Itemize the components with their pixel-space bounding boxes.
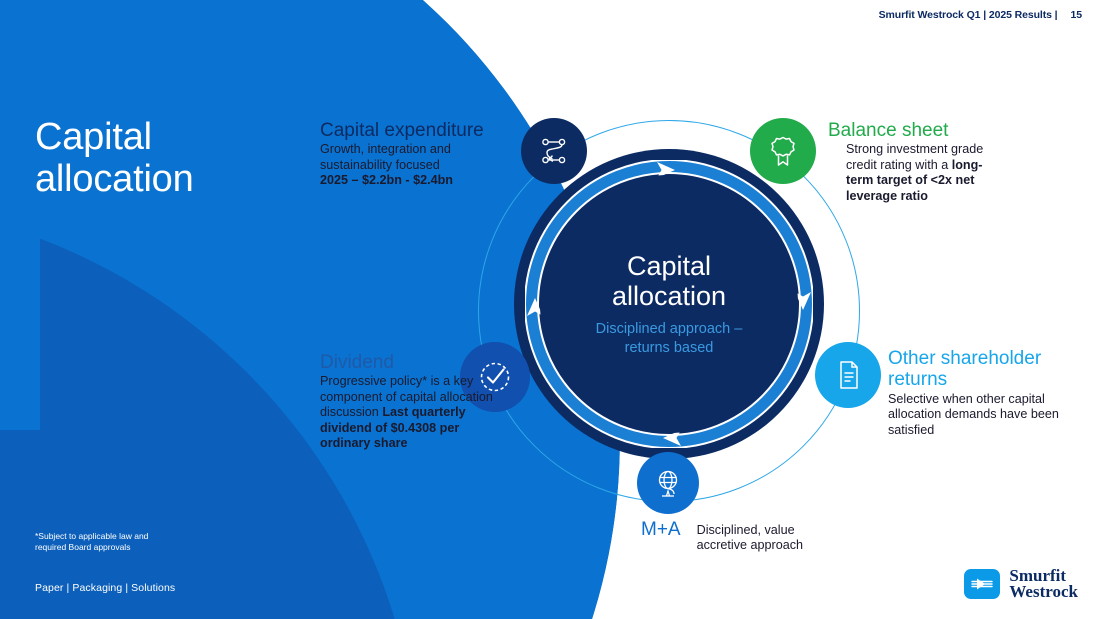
capex-body-line2: sustainability focused: [320, 158, 520, 173]
route-path-icon[interactable]: [521, 118, 587, 184]
pillar-dividend: Dividend Progressive policy* is a key co…: [320, 352, 495, 452]
header-title: Smurfit Westrock Q1 | 2025 Results |: [879, 9, 1058, 21]
pillar-body: Growth, integration and sustainability f…: [320, 142, 520, 188]
document-icon[interactable]: [815, 342, 881, 408]
ma-body-line2: accretive approach: [697, 538, 803, 553]
pillar-body: Strong investment grade credit rating wi…: [846, 142, 1008, 204]
tagline: Paper | Packaging | Solutions: [35, 582, 175, 594]
background-left-fill-dark: [0, 430, 40, 619]
center-subtitle: Disciplined approach – returns based: [596, 320, 743, 357]
pillar-heading: Other shareholder returns: [888, 348, 1068, 391]
center-title: Capital allocation: [612, 251, 726, 311]
capex-body-bold: 2025 – $2.2bn - $2.4bn: [320, 173, 453, 187]
slide: Smurfit Westrock Q1 | 2025 Results | 15 …: [0, 0, 1100, 619]
page-number: 15: [1071, 9, 1082, 21]
pillar-capital-expenditure: Capital expenditure Growth, integration …: [320, 120, 520, 189]
pillar-heading: M+A: [641, 519, 681, 540]
diagram-center-label: Capital allocation Disciplined approach …: [540, 175, 798, 433]
pillar-heading: Dividend: [320, 352, 495, 373]
pillar-body: Disciplined, value accretive approach: [697, 521, 803, 554]
ma-body-line1: Disciplined, value: [697, 523, 803, 538]
award-rosette-icon[interactable]: [750, 118, 816, 184]
center-subtitle-line1: Disciplined approach –: [596, 320, 743, 339]
capital-allocation-diagram: Capital allocation Disciplined approach …: [478, 120, 860, 502]
wave-mark-icon: [964, 569, 1000, 599]
slide-header: Smurfit Westrock Q1 | 2025 Results | 15: [879, 9, 1082, 21]
footnote-line2: required Board approvals: [35, 542, 225, 553]
page-title-line1: Capital: [35, 116, 152, 158]
pillar-heading: Balance sheet: [828, 120, 1008, 141]
footnote: *Subject to applicable law and required …: [35, 531, 225, 554]
logo-line2: Westrock: [1009, 584, 1078, 601]
footnote-line1: *Subject to applicable law and: [35, 531, 225, 542]
company-logo: Smurfit Westrock: [964, 568, 1078, 601]
center-title-line2: allocation: [612, 281, 726, 311]
logo-wordmark: Smurfit Westrock: [1009, 568, 1078, 601]
pillar-balance-sheet: Balance sheet Strong investment grade cr…: [828, 120, 1008, 204]
center-title-line1: Capital: [612, 251, 726, 281]
globe-stand-icon[interactable]: [637, 452, 699, 514]
pillar-body: Selective when other capital allocation …: [888, 392, 1068, 438]
page-title-line2: allocation: [35, 160, 335, 198]
center-subtitle-line2: returns based: [596, 339, 743, 358]
pillar-ma: M+A Disciplined, value accretive approac…: [641, 521, 886, 554]
pillar-heading: Capital expenditure: [320, 120, 520, 141]
pillar-other-shareholder-returns: Other shareholder returns Selective when…: [888, 348, 1068, 438]
page-title: Capital allocation: [35, 118, 335, 198]
pillar-body: Progressive policy* is a key component o…: [320, 374, 495, 451]
capex-body-line1: Growth, integration and: [320, 142, 520, 157]
